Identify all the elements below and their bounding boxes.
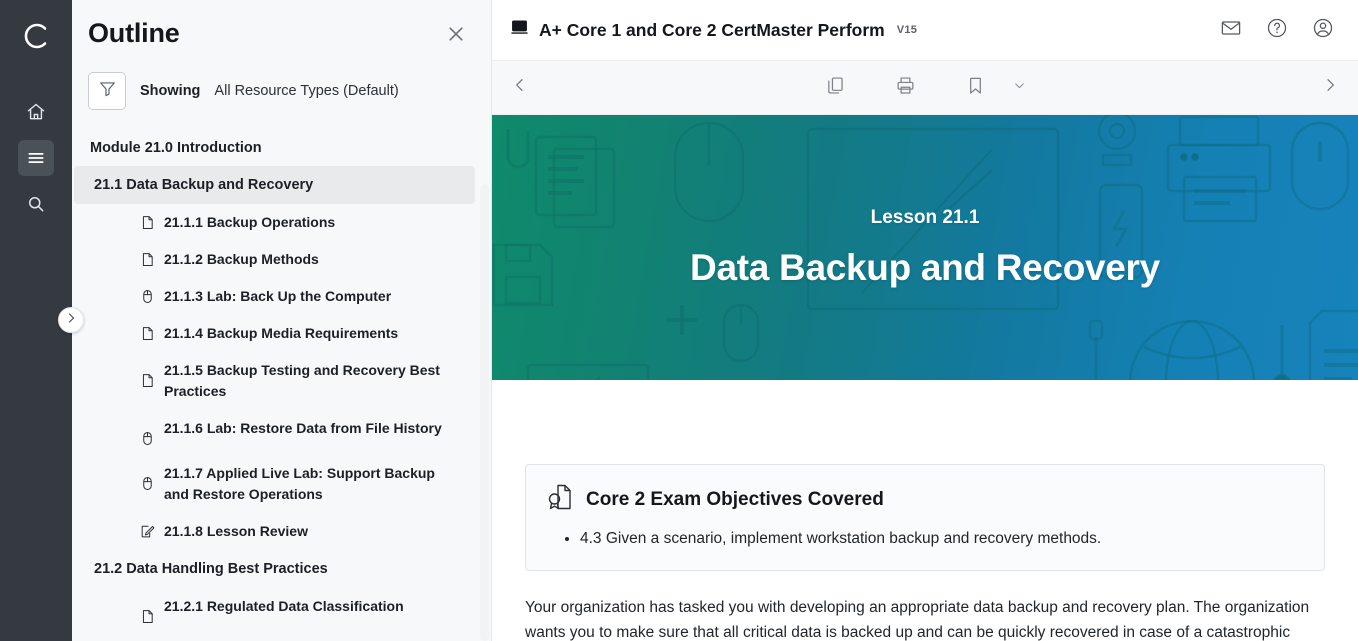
help-circle-icon [1266, 17, 1288, 44]
lesson-body: Core 2 Exam Objectives Covered 4.3 Given… [492, 464, 1358, 641]
chevron-right-icon [65, 311, 77, 329]
book-icon [510, 18, 529, 42]
bookmark-dropdown-button[interactable] [1008, 75, 1030, 101]
outline-topic-row[interactable]: 21.1.4 Backup Media Requirements [72, 315, 491, 352]
outline-lesson-row[interactable]: 21.1 Data Backup and Recovery [74, 166, 475, 204]
course-title: A+ Core 1 and Core 2 CertMaster Perform [539, 20, 885, 41]
outline-topic-row[interactable]: 21.1.6 Lab: Restore Data from File Histo… [72, 410, 491, 455]
c-logo[interactable] [14, 14, 58, 58]
copy-icon [825, 75, 846, 101]
exam-objectives-header: Core 2 Exam Objectives Covered [546, 483, 1304, 516]
filter-button[interactable] [88, 72, 126, 110]
page-toolbar [492, 60, 1358, 115]
exam-objectives-title: Core 2 Exam Objectives Covered [586, 489, 884, 511]
account-button[interactable] [1310, 17, 1336, 43]
outline-topic-row[interactable]: 21.1.7 Applied Live Lab: Support Backup … [72, 455, 491, 513]
header-icon-group [1218, 17, 1336, 43]
account-circle-icon [1312, 17, 1334, 44]
outline-topic-row[interactable]: 21.1.5 Backup Testing and Recovery Best … [72, 352, 491, 410]
bookmark-icon [965, 75, 986, 101]
filter-row: Showing All Resource Types (Default) [72, 66, 491, 122]
banner-title: Data Backup and Recovery [690, 247, 1160, 289]
outline-topic-row[interactable]: 21.2.1 Regulated Data Classification [72, 588, 491, 633]
course-version: V15 [897, 24, 917, 36]
lesson-content: Lesson 21.1 Data Backup and Recovery [492, 115, 1358, 641]
mouse-icon [140, 287, 155, 305]
intro-paragraph: Your organization has tasked you with de… [525, 595, 1320, 641]
print-icon [895, 75, 916, 101]
document-icon [140, 371, 155, 389]
document-icon [140, 607, 155, 625]
close-outline-button[interactable] [443, 23, 469, 49]
document-icon [140, 213, 155, 231]
copy-button[interactable] [820, 73, 850, 103]
certificate-icon [546, 483, 574, 516]
outline-topic-label: 21.1.2 Backup Methods [164, 249, 461, 270]
outline-topic-row[interactable]: 21.1.8 Lesson Review [72, 513, 491, 550]
home-icon [26, 102, 46, 122]
menu-icon [26, 148, 46, 168]
rail-item-home[interactable] [18, 94, 54, 130]
close-icon [446, 24, 466, 49]
prev-page-button[interactable] [492, 77, 548, 98]
course-title-wrap: A+ Core 1 and Core 2 CertMaster Perform … [510, 18, 917, 42]
outline-module-row[interactable]: Module 21.0 Introduction [72, 130, 491, 166]
chevron-right-icon [1322, 77, 1338, 98]
outline-topic-label: 21.1.3 Lab: Back Up the Computer [164, 286, 461, 307]
course-header: A+ Core 1 and Core 2 CertMaster Perform … [492, 0, 1358, 60]
outline-topic-label: 21.1.5 Backup Testing and Recovery Best … [164, 360, 461, 402]
outline-topic-row[interactable]: 21.1.2 Backup Methods [72, 241, 491, 278]
outline-module-label: Module 21.0 Introduction [90, 140, 262, 156]
main-content: A+ Core 1 and Core 2 CertMaster Perform … [492, 0, 1358, 641]
toolbar-actions [492, 73, 1358, 103]
filter-icon [98, 79, 117, 103]
outline-panel: Outline Showing All Resource Types (Defa… [72, 0, 492, 641]
outline-topic-label: 21.1.6 Lab: Restore Data from File Histo… [164, 418, 461, 439]
rail-item-search[interactable] [18, 186, 54, 222]
document-icon [140, 250, 155, 268]
page-title: Outline [88, 16, 180, 50]
outline-tree: Module 21.0 Introduction21.1 Data Backup… [72, 122, 491, 641]
showing-value[interactable]: All Resource Types (Default) [214, 83, 398, 99]
outline-lesson-label: 21.2 Data Handling Best Practices [94, 561, 328, 577]
app-root: Outline Showing All Resource Types (Defa… [0, 0, 1358, 641]
outline-header: Outline [72, 0, 491, 66]
outline-topic-label: 21.1.1 Backup Operations [164, 212, 461, 233]
sidebar-collapse-toggle[interactable] [58, 307, 84, 333]
outline-topic-row[interactable]: 21.1.1 Backup Operations [72, 204, 491, 241]
showing-label: Showing [140, 83, 200, 99]
exam-objectives-list: 4.3 Given a scenario, implement workstat… [580, 528, 1304, 550]
bookmark-button[interactable] [960, 73, 990, 103]
print-button[interactable] [890, 73, 920, 103]
rail-item-outline[interactable] [18, 140, 54, 176]
pencil-square-icon [140, 522, 155, 540]
mail-icon [1220, 17, 1242, 44]
chevron-down-icon [1013, 79, 1026, 97]
exam-objectives-box: Core 2 Exam Objectives Covered 4.3 Given… [525, 464, 1325, 571]
outline-lesson-label: 21.1 Data Backup and Recovery [94, 177, 313, 193]
lesson-banner: Lesson 21.1 Data Backup and Recovery [492, 115, 1358, 380]
search-icon [26, 194, 46, 214]
outline-topic-label: 21.1.4 Backup Media Requirements [164, 323, 461, 344]
outline-lesson-row[interactable]: 21.2 Data Handling Best Practices [74, 550, 475, 588]
outline-topic-label: 21.2.1 Regulated Data Classification [164, 596, 461, 617]
mouse-icon [140, 429, 155, 447]
exam-objective-item: 4.3 Given a scenario, implement workstat… [580, 528, 1304, 550]
outline-scrollbar-track[interactable] [480, 184, 489, 641]
mail-button[interactable] [1218, 17, 1244, 43]
mouse-icon [140, 474, 155, 492]
chevron-left-icon [512, 77, 528, 98]
banner-subtitle: Lesson 21.1 [871, 207, 980, 229]
next-page-button[interactable] [1302, 77, 1358, 98]
outline-topic-label: 21.1.8 Lesson Review [164, 521, 461, 542]
outline-topic-label: 21.1.7 Applied Live Lab: Support Backup … [164, 463, 461, 505]
document-icon [140, 324, 155, 342]
help-button[interactable] [1264, 17, 1290, 43]
outline-topic-row[interactable]: 21.1.3 Lab: Back Up the Computer [72, 278, 491, 315]
